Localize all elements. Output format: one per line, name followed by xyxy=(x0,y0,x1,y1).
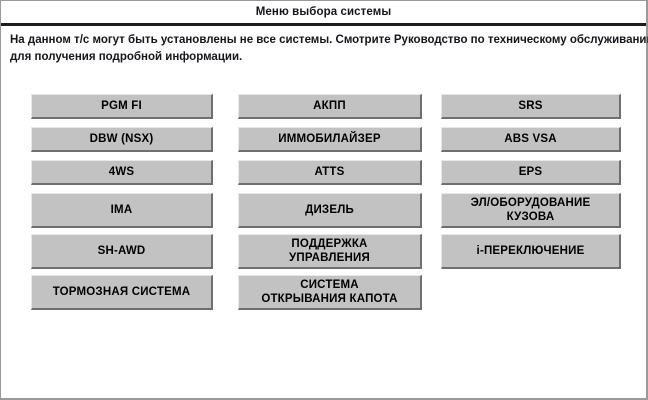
system-button-abs-vsa[interactable]: ABS VSA xyxy=(441,127,621,152)
system-button-label: ЭЛ/ОБОРУДОВАНИЕ КУЗОВА xyxy=(471,196,591,224)
system-button-immobilizer[interactable]: ИММОБИЛАЙЗЕР xyxy=(238,127,422,152)
system-selection-window: Меню выбора системы На данном т/с могут … xyxy=(0,0,648,400)
system-button-label: ДИЗЕЛЬ xyxy=(305,203,354,217)
system-button-4ws[interactable]: 4WS xyxy=(31,160,213,185)
system-button-label: СИСТЕМА ОТКРЫВАНИЯ КАПОТА xyxy=(261,278,397,306)
system-button-label: ABS VSA xyxy=(504,132,557,146)
system-button-hood-opening-system[interactable]: СИСТЕМА ОТКРЫВАНИЯ КАПОТА xyxy=(238,275,422,310)
system-button-sh-awd[interactable]: SH-AWD xyxy=(31,234,213,269)
title-divider xyxy=(1,23,646,26)
system-button-srs[interactable]: SRS xyxy=(441,94,621,119)
system-button-ima[interactable]: IMA xyxy=(31,193,213,228)
system-button-atts[interactable]: ATTS xyxy=(238,160,422,185)
system-button-i-shift[interactable]: i-ПЕРЕКЛЮЧЕНИЕ xyxy=(441,234,621,269)
system-button-label: SRS xyxy=(518,99,542,113)
system-button-label: ПОДДЕРЖКА УПРАВЛЕНИЯ xyxy=(289,237,370,265)
system-button-label: EPS xyxy=(519,165,543,179)
system-button-label: i-ПЕРЕКЛЮЧЕНИЕ xyxy=(477,244,585,258)
system-button-label: PGM FI xyxy=(101,99,142,113)
system-button-brake-system[interactable]: ТОРМОЗНАЯ СИСТЕМА xyxy=(31,275,213,310)
system-button-label: ИММОБИЛАЙЗЕР xyxy=(278,132,381,146)
system-button-label: ATTS xyxy=(315,165,345,179)
system-button-label: IMA xyxy=(111,203,133,217)
system-button-diesel[interactable]: ДИЗЕЛЬ xyxy=(238,193,422,228)
system-button-body-electrical[interactable]: ЭЛ/ОБОРУДОВАНИЕ КУЗОВА xyxy=(441,193,621,228)
system-button-label: DBW (NSX) xyxy=(90,132,154,146)
system-button-pgm-fi[interactable]: PGM FI xyxy=(31,94,213,119)
system-button-grid: PGM FI DBW (NSX) 4WS IMA SH-AWD ТОРМОЗНА… xyxy=(1,89,648,339)
system-button-dbw-nsx[interactable]: DBW (NSX) xyxy=(31,127,213,152)
system-button-eps[interactable]: EPS xyxy=(441,160,621,185)
system-button-label: ТОРМОЗНАЯ СИСТЕМА xyxy=(53,285,191,299)
description-line-1: На данном т/с могут быть установлены не … xyxy=(10,32,640,49)
description-text: На данном т/с могут быть установлены не … xyxy=(10,32,640,65)
window-titlebar: Меню выбора системы xyxy=(1,1,646,23)
system-button-label: АКПП xyxy=(313,99,346,113)
system-button-driving-support[interactable]: ПОДДЕРЖКА УПРАВЛЕНИЯ xyxy=(238,234,422,269)
system-button-akpp[interactable]: АКПП xyxy=(238,94,422,119)
description-line-2: для получения подробной информации. xyxy=(10,49,640,66)
system-button-label: 4WS xyxy=(109,165,135,179)
system-button-label: SH-AWD xyxy=(98,244,146,258)
page-title: Меню выбора системы xyxy=(256,6,392,18)
